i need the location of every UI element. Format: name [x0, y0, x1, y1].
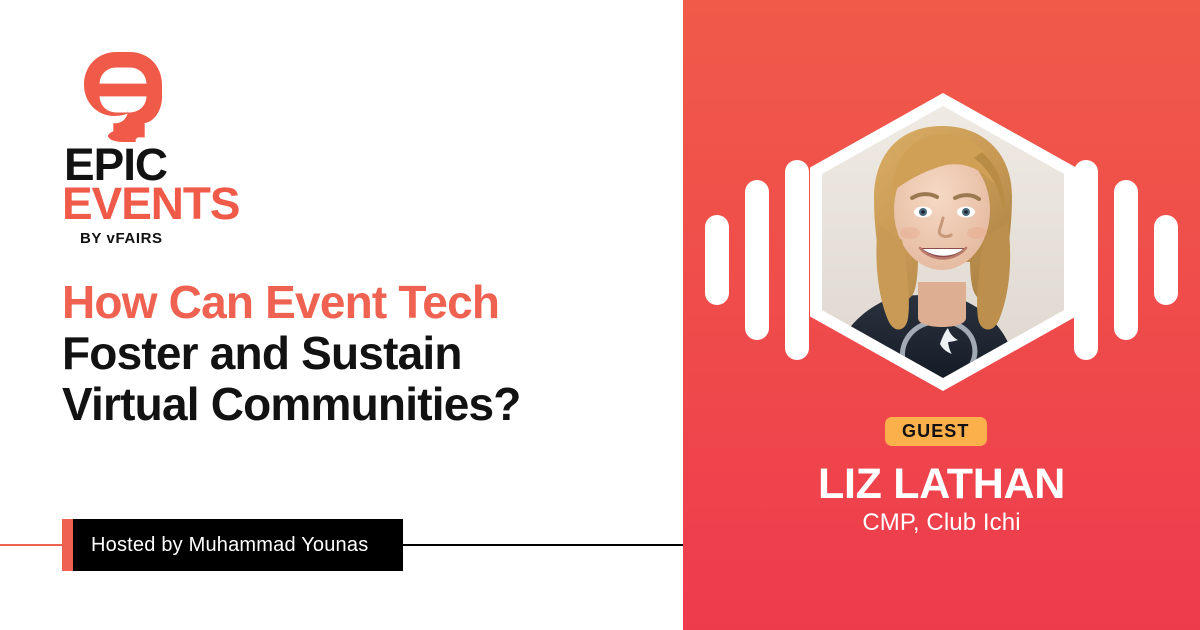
- waveform-bar: [1154, 215, 1178, 305]
- guest-role: CMP, Club Ichi: [683, 509, 1200, 537]
- headline-line-1: How Can Event Tech: [62, 277, 662, 328]
- host-rule-left: [0, 544, 62, 546]
- waveform-bar: [705, 215, 729, 305]
- host-label: Hosted by Muhammad Younas: [73, 534, 368, 557]
- left-content-panel: EPIC EVENTS BY vFAIRS How Can Event Tech…: [0, 0, 683, 630]
- brand-byline: BY vFAIRS: [80, 230, 292, 247]
- waveform-bar: [745, 180, 769, 340]
- waveform-bar: [1114, 180, 1138, 340]
- microphone-e-logo-icon: [80, 50, 166, 142]
- brand-logo: EPIC EVENTS BY vFAIRS: [62, 50, 292, 247]
- guest-name: LIZ LATHAN: [683, 462, 1200, 507]
- headline: How Can Event Tech Foster and Sustain Vi…: [62, 277, 662, 430]
- headline-line-2: Foster and Sustain: [62, 328, 662, 379]
- host-banner: Hosted by Muhammad Younas: [0, 519, 683, 571]
- waveform-bar: [785, 160, 809, 360]
- guest-avatar: [810, 93, 1076, 391]
- brand-name-line2: EVENTS: [62, 183, 297, 226]
- host-accent-bar: [62, 519, 73, 571]
- host-rule-right: [403, 544, 683, 546]
- guest-badge: GUEST: [885, 417, 987, 446]
- waveform-bar: [1074, 160, 1098, 360]
- guest-panel: GUEST LIZ LATHAN CMP, Club Ichi: [683, 0, 1200, 630]
- headline-line-3: Virtual Communities?: [62, 379, 662, 430]
- host-label-box: Hosted by Muhammad Younas: [73, 519, 403, 571]
- promo-card: EPIC EVENTS BY vFAIRS How Can Event Tech…: [0, 0, 1200, 630]
